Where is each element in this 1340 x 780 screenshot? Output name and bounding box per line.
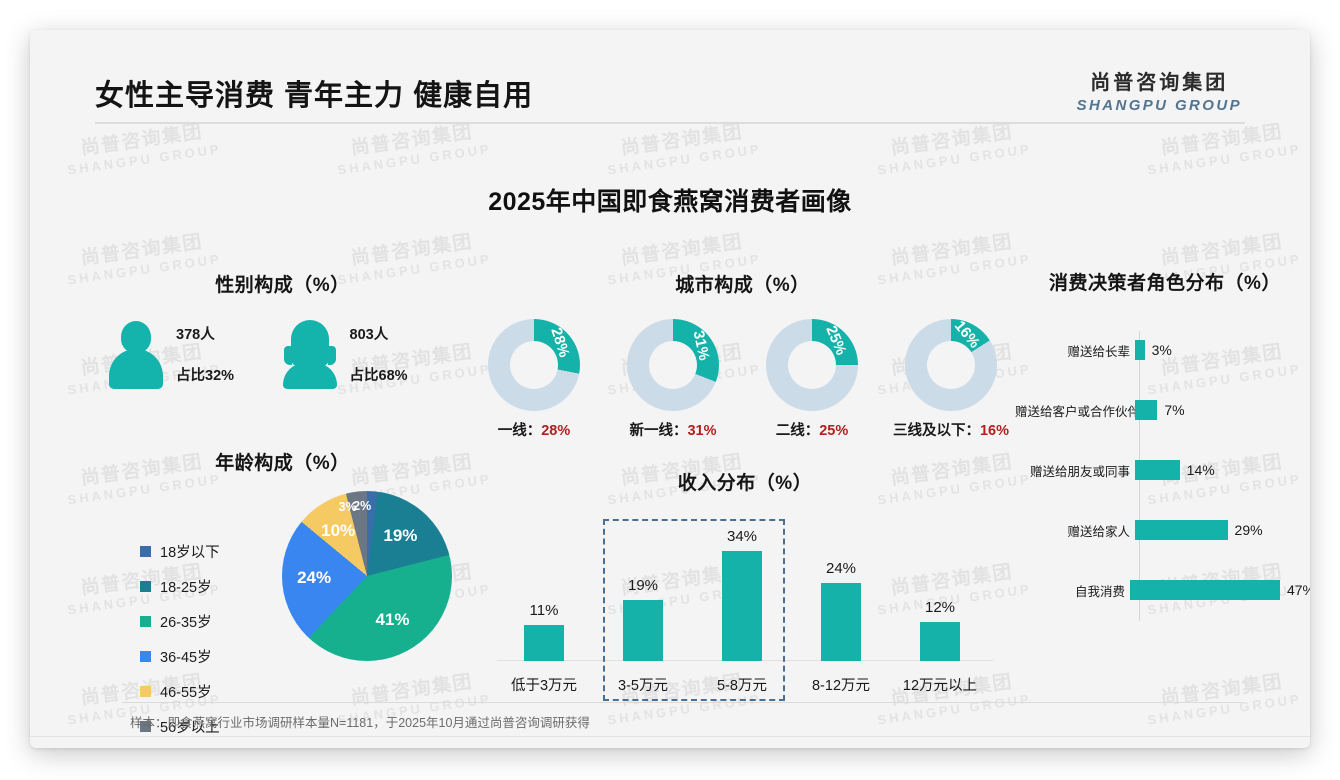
legend-label: 36-45岁 [160,646,212,667]
city-donut-item: 25%二线：25% [748,319,876,440]
income-bar-group: 11% [495,602,593,661]
income-category-label: 3-5万元 [591,674,695,695]
logo-english: SHANGPU GROUP [1077,97,1242,114]
legend-label: 18岁以下 [160,541,220,562]
pie-slice-label: 10% [321,521,355,541]
gender-item-male: 378人 占比32% [108,319,282,389]
legend-swatch [140,581,151,592]
age-pie-chart: 2%19%41%24%10%3% [282,491,452,661]
income-category-label: 5-8万元 [690,674,794,695]
legend-swatch [140,616,151,627]
age-legend-item: 36-45岁 [140,646,220,667]
city-section-title: 城市构成（%） [470,270,1015,297]
donut-caption: 三线及以下：16% [887,419,1015,440]
legend-label: 46-55岁 [160,681,212,702]
roles-section-title: 消费决策者角色分布（%） [1015,268,1310,295]
income-bar-value: 12% [891,599,989,616]
female-share: 占比68% [350,364,408,385]
male-count: 378人 [176,323,234,344]
role-bar [1130,580,1280,600]
income-bar [722,551,762,661]
income-bar [821,583,861,661]
income-category-label: 8-12万元 [789,674,893,695]
gender-section-title: 性别构成（%） [110,270,455,297]
footer-divider [30,736,1310,737]
role-value: 14% [1187,462,1215,478]
role-label: 赠送给朋友或同事 [1015,461,1135,480]
slide-card: 尚普咨询集团SHANGPU GROUP尚普咨询集团SHANGPU GROUP尚普… [30,30,1310,748]
income-bar-group: 12% [891,599,989,661]
female-stats: 803人 占比68% [350,323,408,385]
male-icon [108,319,164,389]
donut-hole [788,341,836,389]
pie-slice-label: 3% [339,500,357,514]
donut-hole [649,341,697,389]
age-legend-item: 18-25岁 [140,576,220,597]
donut-caption-value: 25% [819,423,848,439]
income-panel: 收入分布（%） 11%低于3万元19%3-5万元34%5-8万元24%8-12万… [485,468,1005,713]
role-row: 赠送给家人29% [1015,515,1310,545]
gender-panel: 性别构成（%） 378人 占比32% 803人 占比68% [100,270,455,389]
donut-caption-label: 二线： [776,423,820,439]
pie-slice-label: 19% [383,526,417,546]
role-bar [1135,460,1180,480]
income-bar-value: 34% [693,528,791,545]
role-value: 7% [1164,402,1184,418]
infographic-title: 2025年中国即食燕窝消费者画像 [30,182,1310,218]
legend-label: 18-25岁 [160,576,212,597]
donut-caption: 新一线：31% [609,419,737,440]
sample-note: 样本：即食燕窝行业市场调研样本量N=1181，于2025年10月通过尚普咨询调研… [130,712,590,731]
role-row: 赠送给朋友或同事14% [1015,455,1310,485]
role-label: 赠送给家人 [1015,521,1135,540]
donut-caption-value: 28% [541,423,570,439]
male-stats: 378人 占比32% [176,323,234,385]
income-bar [920,622,960,661]
donut-chart: 31% [627,319,719,411]
donut-chart: 16% [905,319,997,411]
city-panel: 城市构成（%） 28%一线：28%31%新一线：31%25%二线：25%16%三… [470,270,1015,440]
role-label: 自我消费 [1015,581,1130,600]
gender-row: 378人 占比32% 803人 占比68% [100,319,455,389]
female-icon [282,319,338,389]
header-divider [95,122,1245,124]
donut-caption-value: 31% [687,423,716,439]
note-divider [122,702,1242,703]
role-bar [1135,520,1228,540]
donut-hole [510,341,558,389]
age-section-title: 年龄构成（%） [100,448,465,475]
pie-slice-label: 24% [297,568,331,588]
roles-panel: 消费决策者角色分布（%） 赠送给长辈3%赠送给客户或合作伙伴7%赠送给朋友或同事… [1015,268,1310,631]
income-bar-chart: 11%低于3万元19%3-5万元34%5-8万元24%8-12万元12%12万元… [485,513,1005,713]
logo-chinese: 尚普咨询集团 [1077,66,1242,95]
age-panel: 年龄构成（%） 18岁以下18-25岁26-35岁36-45岁46-55岁56岁… [100,448,465,691]
city-donut-row: 28%一线：28%31%新一线：31%25%二线：25%16%三线及以下：16% [470,319,1015,440]
age-pie-wrap: 18岁以下18-25岁26-35岁36-45岁46-55岁56岁以上 2%19%… [100,491,465,691]
female-count: 803人 [350,323,408,344]
legend-label: 26-35岁 [160,611,212,632]
income-bar [524,625,564,661]
role-bar [1135,340,1145,360]
city-donut-item: 16%三线及以下：16% [887,319,1015,440]
role-row: 赠送给客户或合作伙伴7% [1015,395,1310,425]
donut-caption-value: 16% [980,423,1009,439]
city-donut-item: 31%新一线：31% [609,319,737,440]
donut-caption: 二线：25% [748,419,876,440]
watermark: 尚普咨询集团SHANGPU GROUP [1143,664,1303,727]
legend-swatch [140,651,151,662]
role-value: 3% [1152,342,1172,358]
slide-header: 女性主导消费 青年主力 健康自用 尚普咨询集团 SHANGPU GROUP [30,30,1310,125]
role-row: 赠送给长辈3% [1015,335,1310,365]
city-donut-item: 28%一线：28% [470,319,598,440]
legend-swatch [140,546,151,557]
legend-swatch [140,686,151,697]
income-bar-group: 19% [594,577,692,661]
page-title: 女性主导消费 青年主力 健康自用 [95,72,533,114]
role-bar [1135,400,1157,420]
donut-caption-label: 三线及以下： [893,423,980,439]
donut-caption-label: 一线： [498,423,542,439]
brand-logo: 尚普咨询集团 SHANGPU GROUP [1077,66,1242,114]
donut-caption-label: 新一线： [629,423,687,439]
income-bar [623,600,663,661]
age-legend-item: 46-55岁 [140,681,220,702]
gender-item-female: 803人 占比68% [282,319,456,389]
role-label: 赠送给长辈 [1015,341,1135,360]
income-section-title: 收入分布（%） [485,468,1005,495]
age-legend-item: 18岁以下 [140,541,220,562]
pie-slice-label: 41% [375,610,409,630]
role-label: 赠送给客户或合作伙伴 [1015,401,1135,420]
income-category-label: 12万元以上 [888,674,992,695]
donut-caption: 一线：28% [470,419,598,440]
income-bar-group: 24% [792,560,890,661]
role-value: 47% [1287,582,1310,598]
income-bar-value: 24% [792,560,890,577]
age-legend-item: 26-35岁 [140,611,220,632]
male-share: 占比32% [176,364,234,385]
income-bar-value: 11% [495,602,593,619]
roles-bar-chart: 赠送给长辈3%赠送给客户或合作伙伴7%赠送给朋友或同事14%赠送给家人29%自我… [1015,321,1310,631]
role-value: 29% [1235,522,1263,538]
role-row: 自我消费47% [1015,575,1310,605]
income-category-label: 低于3万元 [492,674,596,695]
donut-chart: 25% [766,319,858,411]
donut-chart: 28% [488,319,580,411]
income-bar-group: 34% [693,528,791,661]
income-bar-value: 19% [594,577,692,594]
